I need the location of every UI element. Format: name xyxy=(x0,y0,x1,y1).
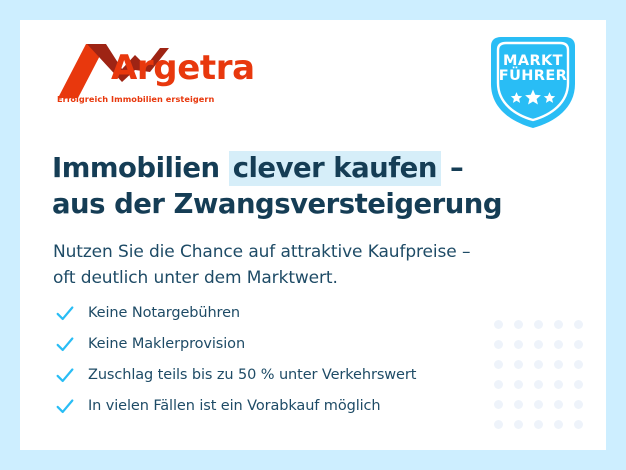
check-icon xyxy=(54,302,76,324)
decorative-dot xyxy=(494,340,503,349)
decorative-dot xyxy=(534,360,543,369)
argetra-logo[interactable]: Argetra Erfolgreich Immobilien ersteiger… xyxy=(56,42,256,122)
decorative-dot xyxy=(574,420,583,429)
decorative-dot xyxy=(514,360,523,369)
banner-canvas: Argetra Erfolgreich Immobilien ersteiger… xyxy=(20,20,606,450)
decorative-dot xyxy=(494,420,503,429)
list-item: Zuschlag teils bis zu 50 % unter Verkehr… xyxy=(54,360,494,389)
decorative-dot xyxy=(574,320,583,329)
decorative-dot xyxy=(554,400,563,409)
decorative-dot xyxy=(554,320,563,329)
decorative-dot xyxy=(574,400,583,409)
headline-part-1: Immobilien xyxy=(52,152,229,184)
decorative-dot xyxy=(574,380,583,389)
check-icon xyxy=(54,395,76,417)
shield-icon xyxy=(485,32,581,132)
decorative-dot xyxy=(574,360,583,369)
headline-line-2: aus der Zwangsversteigerung xyxy=(52,188,502,220)
dot-grid-decoration xyxy=(494,320,606,450)
decorative-dot xyxy=(514,420,523,429)
decorative-dot xyxy=(554,360,563,369)
decorative-dot xyxy=(514,380,523,389)
decorative-dot xyxy=(494,320,503,329)
list-item-label: Keine Maklerprovision xyxy=(88,336,245,352)
list-item: Keine Maklerprovision xyxy=(54,329,494,358)
decorative-dot xyxy=(534,320,543,329)
decorative-dot xyxy=(514,340,523,349)
decorative-dot xyxy=(494,380,503,389)
decorative-dot xyxy=(554,380,563,389)
decorative-dot xyxy=(514,400,523,409)
headline-part-2: – xyxy=(441,152,463,184)
list-item: Keine Notargebühren xyxy=(54,298,494,327)
subheadline-line-1: Nutzen Sie die Chance auf attraktive Kau… xyxy=(53,242,470,262)
decorative-dot xyxy=(514,320,523,329)
decorative-dot xyxy=(534,380,543,389)
decorative-dot xyxy=(534,340,543,349)
promo-banner: Argetra Erfolgreich Immobilien ersteiger… xyxy=(0,0,626,470)
list-item-label: Zuschlag teils bis zu 50 % unter Verkehr… xyxy=(88,367,416,383)
decorative-dot xyxy=(494,400,503,409)
subheadline: Nutzen Sie die Chance auf attraktive Kau… xyxy=(53,239,523,292)
decorative-dot xyxy=(554,420,563,429)
logo-wordmark: Argetra xyxy=(111,51,255,85)
subheadline-line-2: oft deutlich unter dem Marktwert. xyxy=(53,268,338,288)
headline-highlight: clever kaufen xyxy=(229,151,441,186)
check-icon xyxy=(54,364,76,386)
benefits-list: Keine Notargebühren Keine Maklerprovisio… xyxy=(54,298,494,422)
market-leader-badge: MARKT FÜHRER xyxy=(485,32,581,132)
logo-tagline: Erfolgreich Immobilien ersteigern xyxy=(57,94,214,104)
decorative-dot xyxy=(574,340,583,349)
check-icon xyxy=(54,333,76,355)
decorative-dot xyxy=(554,340,563,349)
decorative-dot xyxy=(534,400,543,409)
decorative-dot xyxy=(494,360,503,369)
list-item-label: Keine Notargebühren xyxy=(88,305,240,321)
decorative-dot xyxy=(534,420,543,429)
list-item-label: In vielen Fällen ist ein Vorabkauf mögli… xyxy=(88,398,381,414)
list-item: In vielen Fällen ist ein Vorabkauf mögli… xyxy=(54,391,494,420)
headline: Immobilien clever kaufen – aus der Zwang… xyxy=(52,151,522,223)
